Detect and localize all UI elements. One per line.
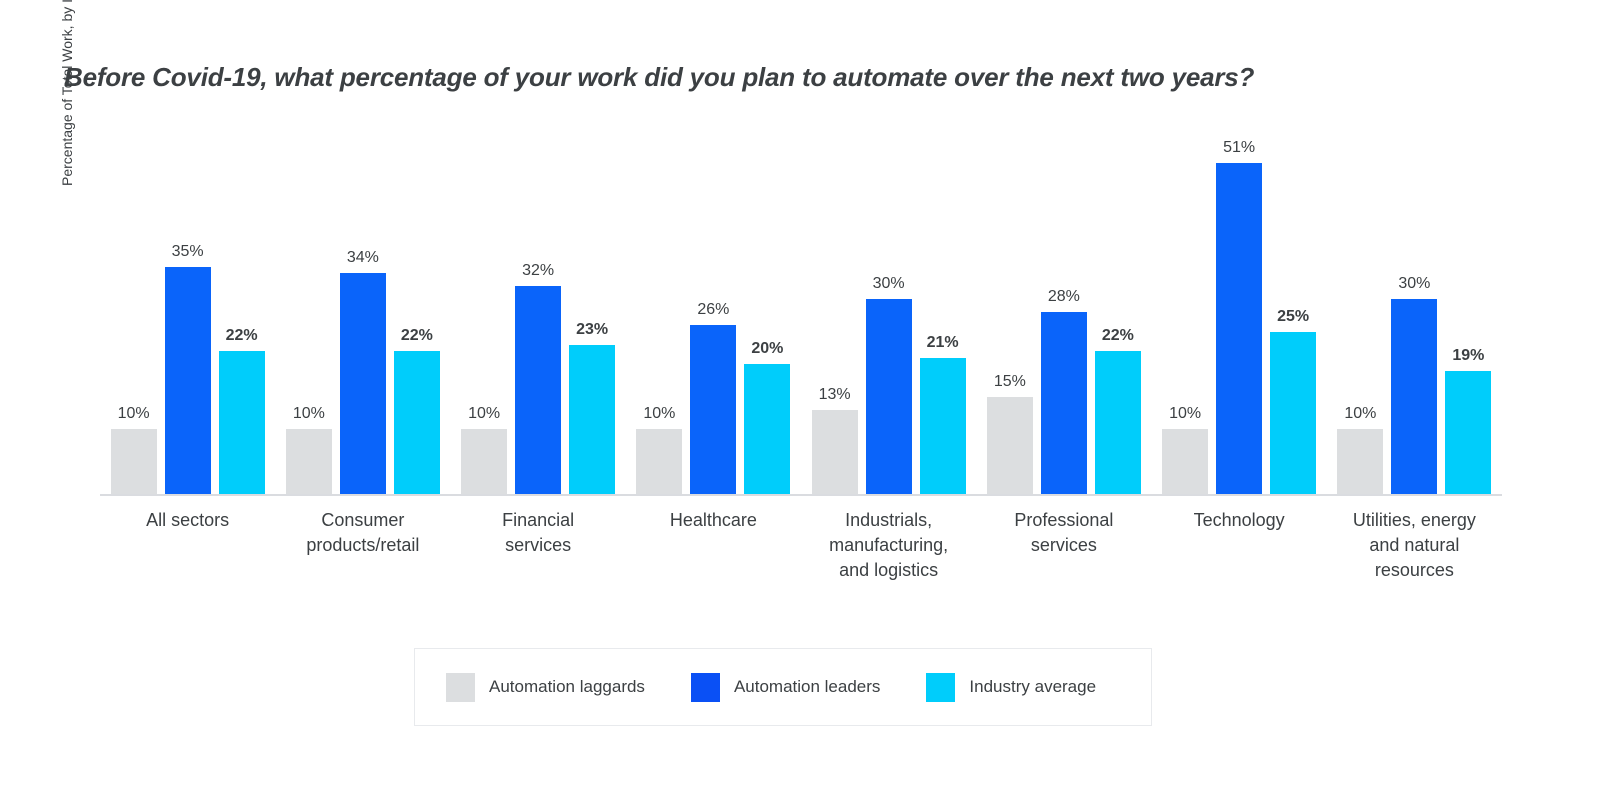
bar-leaders[interactable] — [1216, 163, 1262, 495]
bar-laggards[interactable] — [111, 429, 157, 494]
bar-average[interactable] — [219, 351, 265, 494]
bar-column: 10% — [111, 130, 157, 494]
bar-value-label: 28% — [1048, 289, 1080, 305]
x-axis-label-line: Consumer — [281, 508, 444, 533]
bar-value-label: 22% — [1102, 328, 1134, 344]
bar-value-label: 13% — [819, 387, 851, 403]
bar-value-label: 20% — [751, 341, 783, 357]
bar-column: 30% — [1391, 130, 1437, 494]
bar-column: 13% — [812, 130, 858, 494]
x-axis-label-line: All sectors — [106, 508, 269, 533]
bar-value-label: 21% — [927, 335, 959, 351]
bar-column: 19% — [1445, 130, 1491, 494]
x-axis-label-line: Healthcare — [632, 508, 795, 533]
bar-group: 10%32%23% — [451, 130, 626, 494]
bar-laggards[interactable] — [286, 429, 332, 494]
legend-swatch-icon — [446, 673, 475, 702]
bar-value-label: 34% — [347, 250, 379, 266]
bar-column: 10% — [1337, 130, 1383, 494]
bar-group: 10%34%22% — [275, 130, 450, 494]
x-axis-label-line: Technology — [1158, 508, 1321, 533]
bar-leaders[interactable] — [866, 299, 912, 494]
bar-column: 10% — [1162, 130, 1208, 494]
x-axis-label: Healthcare — [626, 508, 801, 583]
bar-value-label: 25% — [1277, 309, 1309, 325]
bar-average[interactable] — [394, 351, 440, 494]
bar-leaders[interactable] — [690, 325, 736, 494]
x-axis-label: All sectors — [100, 508, 275, 583]
bar-laggards[interactable] — [636, 429, 682, 494]
bar-column: 25% — [1270, 130, 1316, 494]
y-axis-label: Percentage of Total Work, by Industry — [58, 0, 76, 186]
bar-column: 23% — [569, 130, 615, 494]
bar-average[interactable] — [1095, 351, 1141, 494]
bar-value-label: 10% — [1344, 406, 1376, 422]
bar-value-label: 30% — [873, 276, 905, 292]
legend-swatch-icon — [691, 673, 720, 702]
bar-column: 28% — [1041, 130, 1087, 494]
bar-leaders[interactable] — [165, 267, 211, 495]
bar-value-label: 30% — [1398, 276, 1430, 292]
bar-group: 15%28%22% — [976, 130, 1151, 494]
plot-area: 10%35%22%10%34%22%10%32%23%10%26%20%13%3… — [100, 130, 1502, 496]
bar-column: 22% — [1095, 130, 1141, 494]
x-axis-label-line: Professional — [982, 508, 1145, 533]
bar-value-label: 35% — [172, 244, 204, 260]
x-axis-baseline — [100, 494, 1502, 496]
bar-value-label: 19% — [1452, 348, 1484, 364]
x-axis-label-line: resources — [1333, 558, 1496, 583]
bar-average[interactable] — [1445, 371, 1491, 495]
x-axis-label-line: manufacturing, — [807, 533, 970, 558]
bar-column: 21% — [920, 130, 966, 494]
bar-leaders[interactable] — [1041, 312, 1087, 494]
bar-value-label: 32% — [522, 263, 554, 279]
bar-group: 10%30%19% — [1327, 130, 1502, 494]
x-axis-label: Industrials,manufacturing,and logistics — [801, 508, 976, 583]
bar-group: 10%35%22% — [100, 130, 275, 494]
bar-value-label: 23% — [576, 322, 608, 338]
bar-laggards[interactable] — [1337, 429, 1383, 494]
bar-value-label: 10% — [468, 406, 500, 422]
bar-column: 32% — [515, 130, 561, 494]
x-axis-label-line: products/retail — [281, 533, 444, 558]
bar-column: 10% — [461, 130, 507, 494]
bar-column: 51% — [1216, 130, 1262, 494]
bar-leaders[interactable] — [515, 286, 561, 494]
chart-title: Before Covid-19, what percentage of your… — [64, 62, 1254, 93]
x-axis-label: Professionalservices — [976, 508, 1151, 583]
x-axis-tick-labels: All sectorsConsumerproducts/retailFinanc… — [100, 508, 1502, 583]
bar-laggards[interactable] — [1162, 429, 1208, 494]
bar-column: 15% — [987, 130, 1033, 494]
bar-laggards[interactable] — [812, 410, 858, 495]
bar-value-label: 10% — [293, 406, 325, 422]
x-axis-label: Utilities, energyand naturalresources — [1327, 508, 1502, 583]
x-axis-label-line: Financial — [457, 508, 620, 533]
bar-value-label: 22% — [226, 328, 258, 344]
bar-column: 30% — [866, 130, 912, 494]
legend-swatch-icon — [926, 673, 955, 702]
bar-groups: 10%35%22%10%34%22%10%32%23%10%26%20%13%3… — [100, 130, 1502, 494]
legend-item-laggards[interactable]: Automation laggards — [446, 673, 645, 702]
bar-value-label: 51% — [1223, 140, 1255, 156]
bar-average[interactable] — [1270, 332, 1316, 495]
legend-item-average[interactable]: Industry average — [926, 673, 1096, 702]
x-axis-label-line: and logistics — [807, 558, 970, 583]
x-axis-label: Financialservices — [451, 508, 626, 583]
bar-group: 10%26%20% — [626, 130, 801, 494]
bar-laggards[interactable] — [461, 429, 507, 494]
x-axis-label-line: services — [982, 533, 1145, 558]
chart-legend: Automation laggardsAutomation leadersInd… — [414, 648, 1152, 726]
bar-value-label: 22% — [401, 328, 433, 344]
bar-column: 35% — [165, 130, 211, 494]
x-axis-label-line: Utilities, energy — [1333, 508, 1496, 533]
bar-value-label: 10% — [643, 406, 675, 422]
bar-average[interactable] — [569, 345, 615, 495]
x-axis-label-line: Industrials, — [807, 508, 970, 533]
legend-label: Automation laggards — [489, 677, 645, 697]
bar-column: 34% — [340, 130, 386, 494]
bar-laggards[interactable] — [987, 397, 1033, 495]
x-axis-label: Consumerproducts/retail — [275, 508, 450, 583]
bar-average[interactable] — [920, 358, 966, 495]
bar-column: 22% — [394, 130, 440, 494]
bar-column: 22% — [219, 130, 265, 494]
bar-value-label: 10% — [1169, 406, 1201, 422]
bar-column: 10% — [286, 130, 332, 494]
bar-group: 13%30%21% — [801, 130, 976, 494]
bar-column: 10% — [636, 130, 682, 494]
legend-label: Automation leaders — [734, 677, 880, 697]
bar-value-label: 10% — [118, 406, 150, 422]
legend-label: Industry average — [969, 677, 1096, 697]
bar-value-label: 26% — [697, 302, 729, 318]
legend-item-leaders[interactable]: Automation leaders — [691, 673, 880, 702]
bar-column: 26% — [690, 130, 736, 494]
bar-average[interactable] — [744, 364, 790, 494]
bar-leaders[interactable] — [1391, 299, 1437, 494]
bar-value-label: 15% — [994, 374, 1026, 390]
bar-leaders[interactable] — [340, 273, 386, 494]
x-axis-label: Technology — [1152, 508, 1327, 583]
x-axis-label-line: and natural — [1333, 533, 1496, 558]
bar-column: 20% — [744, 130, 790, 494]
x-axis-label-line: services — [457, 533, 620, 558]
bar-group: 10%51%25% — [1152, 130, 1327, 494]
